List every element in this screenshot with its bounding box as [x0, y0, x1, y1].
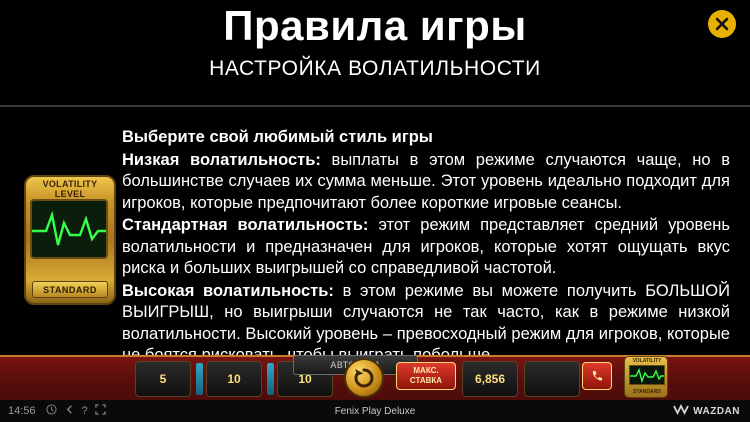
page-title: Правила игры	[0, 2, 750, 50]
rules-heading: Выберите свой любимый стиль игры	[122, 127, 730, 149]
bet-value-2[interactable]: 10	[206, 361, 262, 397]
badge-ecg-display	[30, 199, 108, 259]
brand: WAZDAN	[673, 404, 740, 418]
rules-overlay: Правила игры НАСТРОЙКА ВОЛАТИЛЬНОСТИ VOL…	[0, 0, 750, 400]
rules-heading-text: Выберите свой любимый стиль игры	[122, 128, 433, 146]
close-button[interactable]	[708, 10, 736, 38]
mini-badge-level: STANDARD	[629, 389, 665, 395]
balance-display: 6,856	[462, 361, 518, 397]
spin-button[interactable]	[344, 358, 384, 398]
close-icon	[713, 15, 731, 33]
badge-title-line2: LEVEL	[55, 189, 86, 199]
paragraph-standard-label: Стандартная волатильность:	[122, 216, 368, 234]
rules-text: Выберите свой любимый стиль игры Низкая …	[122, 127, 730, 368]
reel-separator-2	[267, 363, 274, 395]
reel-slot-empty[interactable]	[524, 361, 580, 397]
wazdan-logo-icon	[673, 404, 689, 418]
reel-separator-1	[196, 363, 203, 395]
paragraph-high: Высокая волатильность: в этом режиме вы …	[122, 281, 730, 367]
max-bet-line2: СТАВКА	[410, 376, 442, 386]
heartbeat-icon	[630, 366, 664, 384]
phone-icon	[590, 369, 604, 383]
divider	[0, 105, 750, 107]
paragraph-low-label: Низкая волатильность:	[122, 151, 321, 169]
paragraph-high-label: Высокая волатильность:	[122, 282, 334, 300]
game-title: Fenix Play Deluxe	[0, 406, 750, 417]
status-bar: 14:56 ? Fenix Play Deluxe WAZDAN	[0, 400, 750, 422]
page-subtitle: НАСТРОЙКА ВОЛАТИЛЬНОСТИ	[0, 57, 750, 81]
mini-badge-display	[629, 365, 665, 385]
spin-icon	[352, 366, 376, 390]
volatility-badge: VOLATILITY LEVEL STANDARD	[24, 175, 116, 305]
heartbeat-icon	[32, 201, 106, 257]
game-screen: Правила игры НАСТРОЙКА ВОЛАТИЛЬНОСТИ VOL…	[0, 0, 750, 422]
max-bet-button[interactable]: МАКС. СТАВКА	[396, 362, 456, 390]
volatility-mini-badge[interactable]: VOLATILITY STANDARD	[624, 356, 668, 398]
bet-value-1[interactable]: 5	[135, 361, 191, 397]
badge-level: STANDARD	[32, 281, 108, 298]
badge-title-line1: VOLATILITY	[43, 179, 98, 189]
paragraph-standard: Стандартная волатильность: этот режим пр…	[122, 215, 730, 280]
badge-title: VOLATILITY LEVEL	[24, 179, 116, 199]
mini-badge-title: VOLATILITY	[625, 358, 669, 364]
phone-button[interactable]	[582, 362, 612, 390]
paragraph-low: Низкая волатильность: выплаты в этом реж…	[122, 150, 730, 215]
brand-label: WAZDAN	[693, 406, 740, 417]
max-bet-line1: МАКС.	[413, 366, 438, 376]
